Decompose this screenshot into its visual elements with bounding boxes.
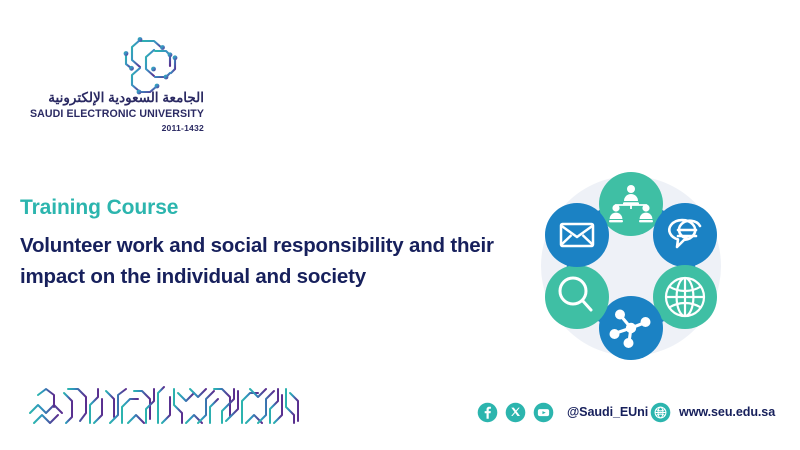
page-title: Volunteer work and social responsibility… (20, 230, 520, 292)
website-url-text: www.seu.edu.sa (679, 405, 775, 419)
youtube-icon[interactable] (533, 402, 554, 423)
node-globe (653, 265, 717, 329)
six-node-circular-process-diagram (528, 163, 734, 369)
x-twitter-icon[interactable] (505, 402, 526, 423)
footer-social-group: @Saudi_EUni (477, 400, 648, 424)
logo-founding-years: 2011-1432 (14, 123, 204, 134)
node-speech-bubble (653, 203, 717, 267)
eyebrow-label: Training Course (20, 196, 178, 220)
seu-hexagon-circuit-logo (110, 28, 184, 98)
logo-arabic-name: الجامعة السعودية الإلكترونية (14, 90, 204, 106)
facebook-icon[interactable] (477, 402, 498, 423)
node-envelope (545, 203, 609, 267)
circuit-board-decorative-pattern (28, 383, 318, 429)
social-handle-text: @Saudi_EUni (567, 405, 648, 419)
logo-english-name: SAUDI ELECTRONIC UNIVERSITY (14, 108, 204, 121)
node-people-hierarchy (599, 172, 663, 236)
node-magnifier (545, 265, 609, 329)
footer-website-group: www.seu.edu.sa (650, 400, 775, 424)
node-network (599, 296, 663, 360)
globe-icon[interactable] (650, 402, 671, 423)
